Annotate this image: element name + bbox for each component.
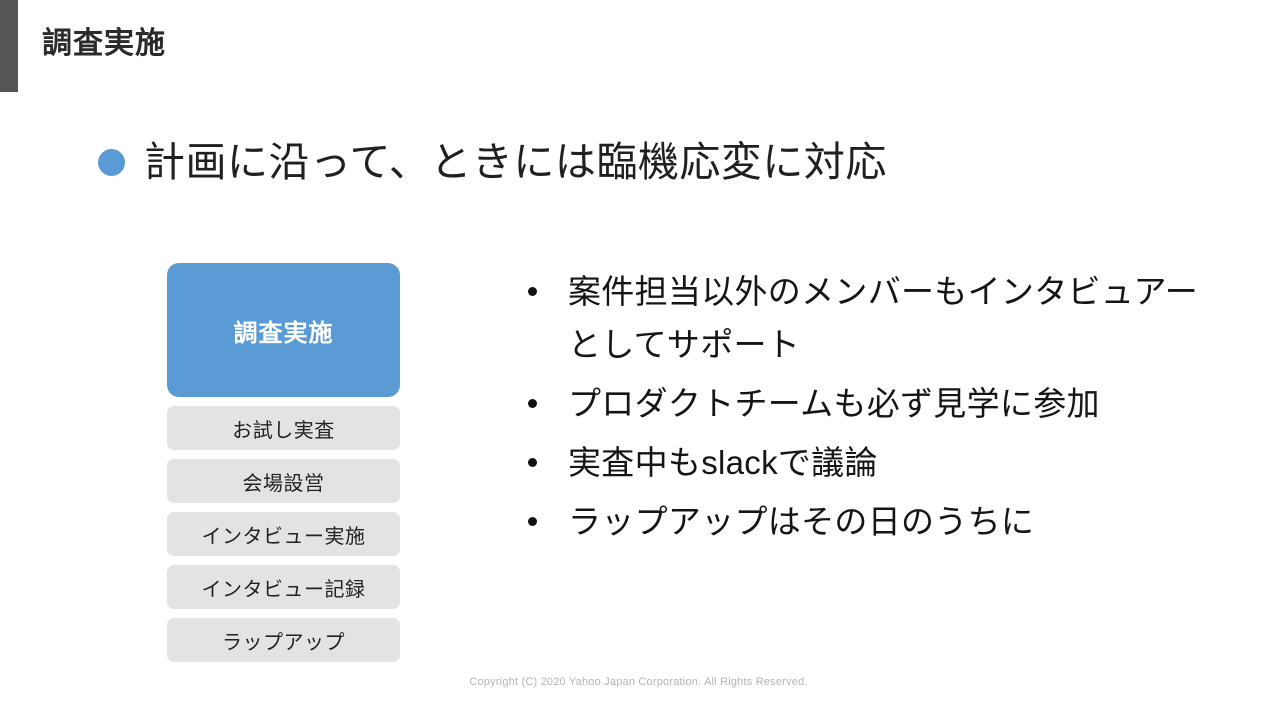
- list-item: 実査中もslackで議論: [528, 436, 1218, 489]
- bullet-dot-icon: [528, 399, 537, 408]
- bullet-dot-icon: [528, 517, 537, 526]
- flow-step-item[interactable]: お試し実査: [167, 406, 400, 450]
- flow-step-current[interactable]: 調査実施: [167, 263, 400, 397]
- bullet-circle-icon: [98, 149, 125, 176]
- bullet-dot-icon: [528, 458, 537, 467]
- flow-step-label: インタビュー記録: [202, 573, 366, 602]
- flow-step-label: 会場設営: [243, 467, 325, 496]
- bullet-dot-icon: [528, 287, 537, 296]
- flow-step-label: お試し実査: [232, 414, 335, 443]
- footer-copyright: Copyright (C) 2020 Yahoo Japan Corporati…: [0, 676, 1277, 688]
- detail-bullet-list: 案件担当以外のメンバーもインタビュアーとしてサポート プロダクトチームも必ず見学…: [528, 265, 1218, 554]
- flow-step-item[interactable]: 会場設営: [167, 459, 400, 503]
- list-item: ラップアップはその日のうちに: [528, 495, 1218, 548]
- page-title: 調査実施: [42, 22, 166, 66]
- list-item: 案件担当以外のメンバーもインタビュアーとしてサポート: [528, 265, 1218, 371]
- slide-canvas: 調査実施 計画に沿って、ときには臨機応変に対応 調査実施 お試し実査 会場設営 …: [0, 0, 1277, 715]
- flow-step-item[interactable]: インタビュー実施: [167, 512, 400, 556]
- list-item-text: ラップアップはその日のうちに: [568, 495, 1034, 548]
- list-item-text: 案件担当以外のメンバーもインタビュアーとしてサポート: [568, 265, 1218, 371]
- flow-step-current-label: 調査実施: [234, 313, 334, 348]
- process-flow-column: 調査実施 お試し実査 会場設営 インタビュー実施 インタビュー記録 ラップアップ: [167, 263, 400, 662]
- list-item-text: プロダクトチームも必ず見学に参加: [568, 377, 1100, 430]
- flow-step-item[interactable]: インタビュー記録: [167, 565, 400, 609]
- flow-step-label: インタビュー実施: [202, 520, 366, 549]
- list-item-text: 実査中もslackで議論: [568, 436, 878, 489]
- flow-step-item[interactable]: ラップアップ: [167, 618, 400, 662]
- lead-statement-text: 計画に沿って、ときには臨機応変に対応: [144, 136, 887, 188]
- lead-statement: 計画に沿って、ときには臨機応変に対応: [98, 136, 887, 188]
- title-accent-bar: [0, 0, 18, 92]
- flow-step-label: ラップアップ: [222, 626, 345, 655]
- list-item: プロダクトチームも必ず見学に参加: [528, 377, 1218, 430]
